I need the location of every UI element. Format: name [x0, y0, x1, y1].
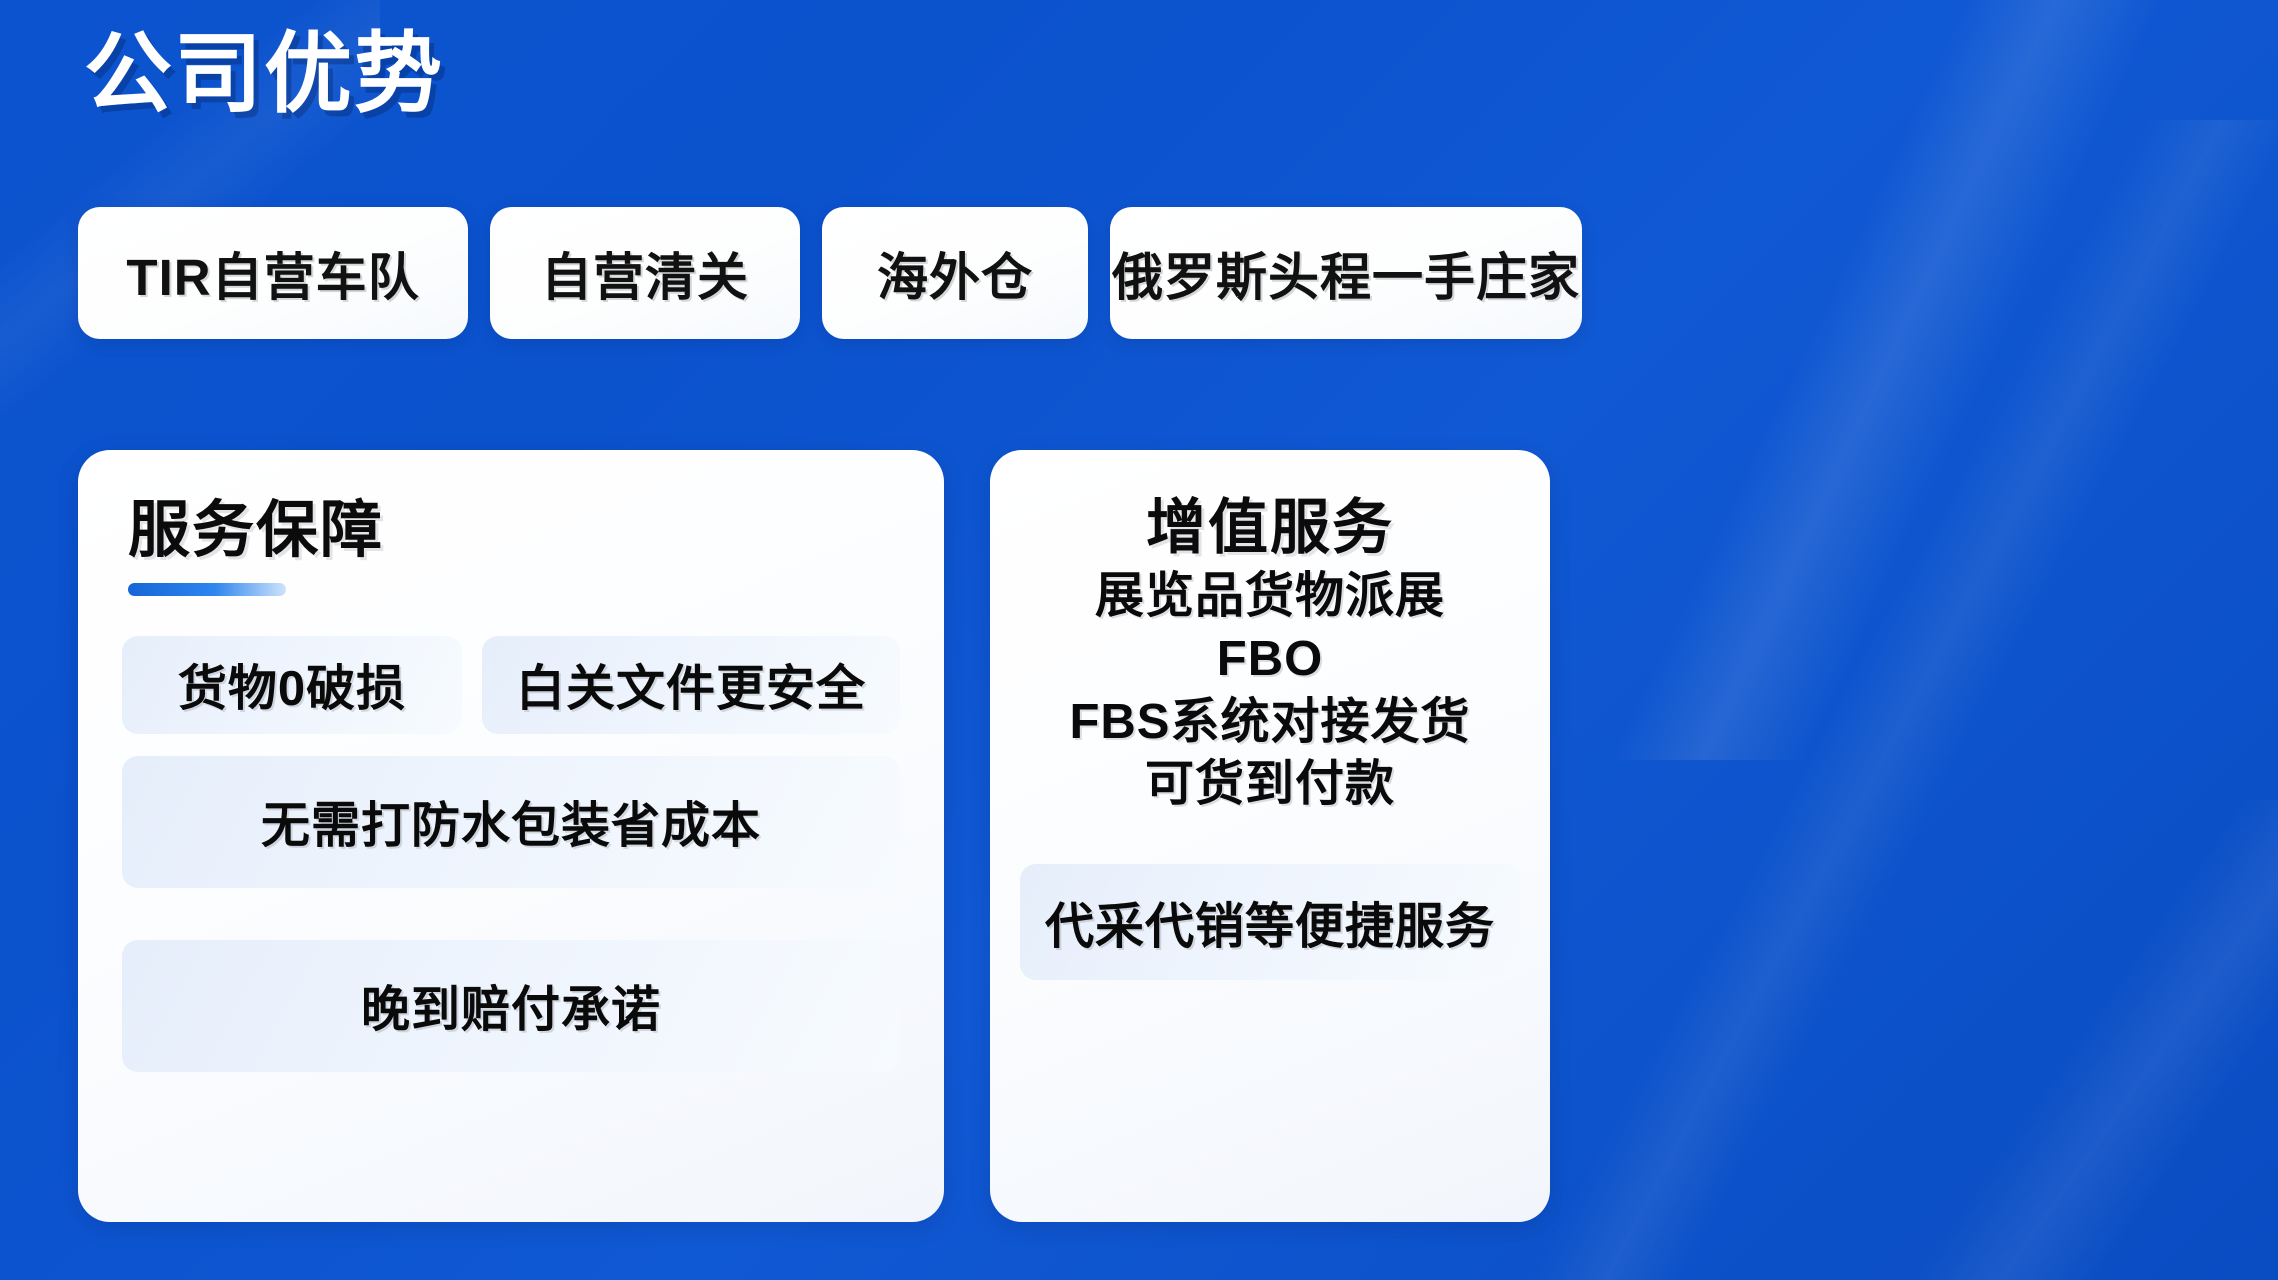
chip-label: 海外仓 [877, 236, 1033, 310]
advantage-chip-self-customs[interactable]: 自营清关 [490, 207, 800, 339]
panel-row: 服务保障 货物0破损 白关文件更安全 无需打防水包装省成本 [78, 450, 1550, 1222]
service-guarantee-pill-list: 货物0破损 白关文件更安全 无需打防水包装省成本 晚到赔付承诺 [122, 636, 900, 1072]
pill-row: 晚到赔付承诺 [122, 940, 900, 1072]
service-pill-no-waterproof-packing[interactable]: 无需打防水包装省成本 [122, 756, 900, 888]
service-guarantee-accent-bar [128, 583, 286, 596]
slide-canvas: 公司优势 TIR自营车队 自营清关 海外仓 俄罗斯头程一手庄家 服务保障 货物0… [0, 0, 2278, 1280]
advantage-chip-russia-first-leg[interactable]: 俄罗斯头程一手庄家 [1110, 207, 1582, 339]
chip-label: 俄罗斯头程一手庄家 [1112, 236, 1580, 310]
service-pill-late-delivery-compensation[interactable]: 晚到赔付承诺 [122, 940, 900, 1072]
value-added-pill-procurement-sales[interactable]: 代采代销等便捷服务 [1020, 864, 1520, 980]
service-pill-white-customs-docs[interactable]: 白关文件更安全 [482, 636, 900, 734]
service-guarantee-title: 服务保障 [128, 498, 900, 565]
background-light-streak-1 [1458, 0, 2278, 760]
pill-row: 货物0破损 白关文件更安全 [122, 636, 900, 734]
advantage-chip-overseas-warehouse[interactable]: 海外仓 [822, 207, 1088, 339]
chip-label: 自营清关 [541, 236, 749, 310]
value-added-services-panel: 增值服务 展览品货物派展 FBO FBS系统对接发货 可货到付款 代采代销等便捷… [990, 450, 1550, 1222]
value-added-line-cod: 可货到付款 [1145, 753, 1395, 816]
advantage-chip-tir-fleet[interactable]: TIR自营车队 [78, 207, 468, 339]
value-added-line-fbo: FBO [1217, 628, 1323, 691]
advantage-chip-row: TIR自营车队 自营清关 海外仓 俄罗斯头程一手庄家 [78, 207, 1582, 339]
value-added-title: 增值服务 [1146, 494, 1394, 561]
pill-label: 无需打防水包装省成本 [261, 786, 761, 857]
background-light-streak-4 [1718, 800, 2278, 1280]
service-pill-zero-damage[interactable]: 货物0破损 [122, 636, 462, 734]
page-title: 公司优势 [84, 26, 444, 123]
value-added-line-fbs: FBS系统对接发货 [1069, 691, 1470, 754]
pill-label: 晚到赔付承诺 [361, 970, 661, 1041]
pill-row: 无需打防水包装省成本 [122, 756, 900, 888]
pill-label: 代采代销等便捷服务 [1045, 887, 1495, 958]
chip-label: TIR自营车队 [126, 236, 419, 310]
pill-label: 货物0破损 [178, 649, 406, 720]
pill-label: 白关文件更安全 [516, 649, 866, 720]
value-added-line-exhibition: 展览品货物派展 [1095, 565, 1445, 628]
service-guarantee-panel: 服务保障 货物0破损 白关文件更安全 无需打防水包装省成本 [78, 450, 944, 1222]
